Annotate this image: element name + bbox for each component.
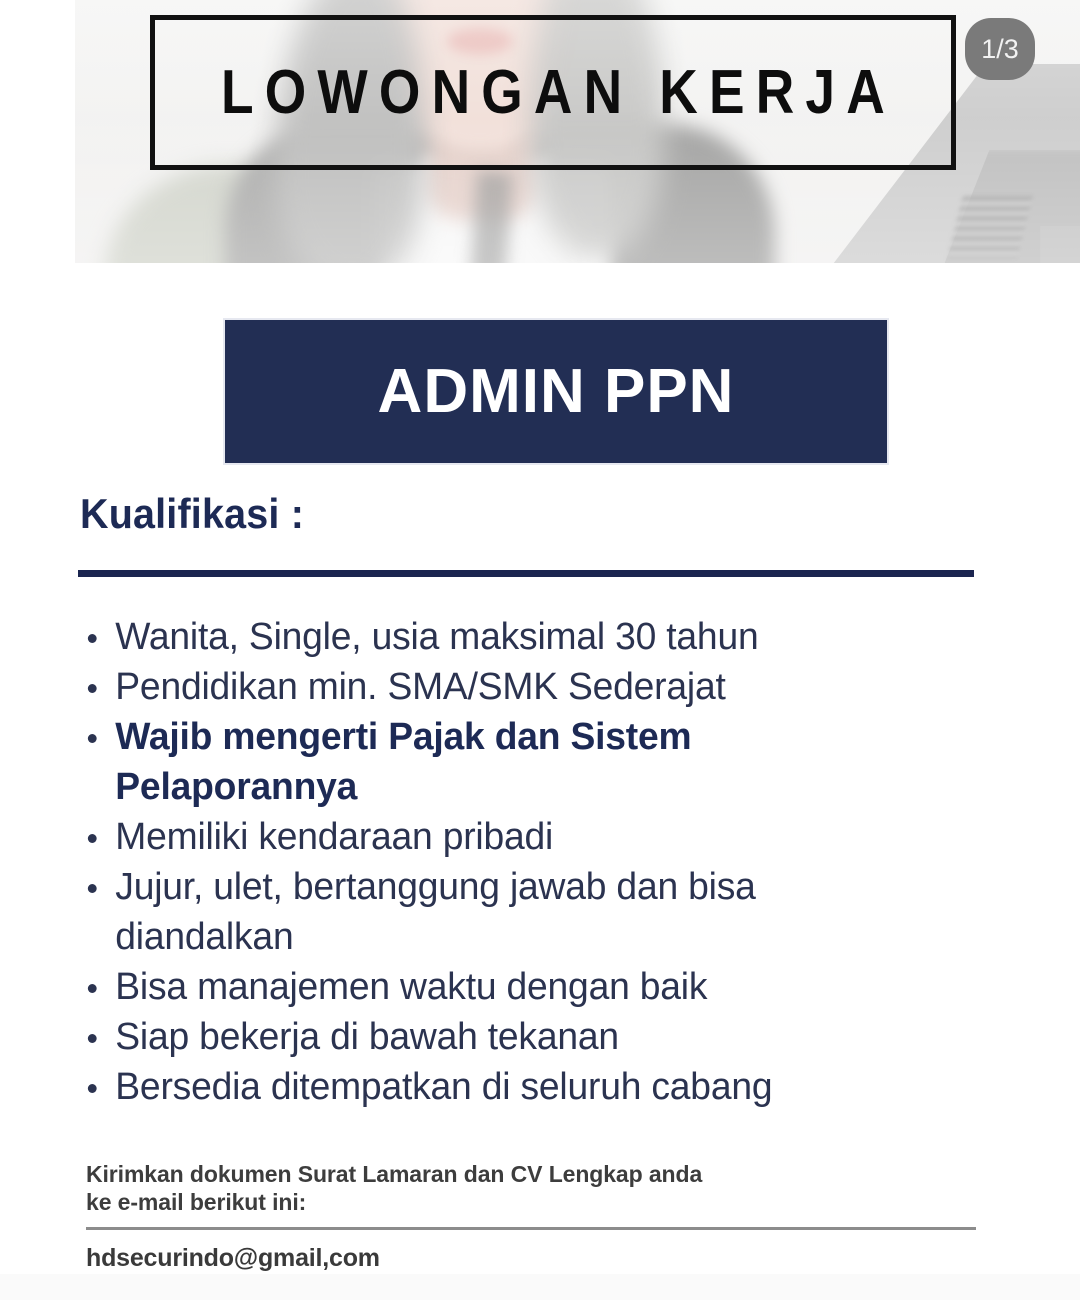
list-item: Bisa manajemen waktu dengan baik bbox=[80, 962, 991, 1012]
job-title-banner: ADMIN PPN bbox=[225, 320, 887, 463]
list-item: Bersedia ditempatkan di seluruh cabang bbox=[80, 1062, 991, 1112]
list-item: Siap bekerja di bawah tekanan bbox=[80, 1012, 991, 1062]
contact-email: hdsecurindo@gmail,com bbox=[86, 1244, 986, 1273]
footer-instruction-line-1: Kirimkan dokumen Surat Lamaran dan CV Le… bbox=[86, 1160, 986, 1188]
list-item: Memiliki kendaraan pribadi bbox=[80, 812, 991, 862]
list-item: Wajib mengerti Pajak dan Sistem Pelapora… bbox=[80, 712, 801, 812]
footer-section: Kirimkan dokumen Surat Lamaran dan CV Le… bbox=[86, 1160, 986, 1273]
list-item: Pendidikan min. SMA/SMK Sederajat bbox=[80, 662, 991, 712]
job-title: ADMIN PPN bbox=[378, 356, 735, 427]
qualifications-heading: Kualifikasi : bbox=[80, 490, 304, 538]
heading-divider bbox=[78, 570, 974, 577]
footer-instruction-line-2: ke e-mail berikut ini: bbox=[86, 1188, 986, 1216]
poster-title: LOWONGAN KERJA bbox=[210, 57, 896, 128]
qualifications-list: Wanita, Single, usia maksimal 30 tahun P… bbox=[80, 612, 1010, 1112]
bottom-strip bbox=[0, 1274, 1080, 1300]
footer-divider bbox=[86, 1227, 976, 1230]
list-item: Jujur, ulet, bertanggung jawab dan bisa … bbox=[80, 862, 860, 962]
job-vacancy-poster: LOWONGAN KERJA 1/3 ADMIN PPN Kualifikasi… bbox=[0, 0, 1080, 1300]
page-indicator-badge: 1/3 bbox=[965, 18, 1035, 80]
list-item: Wanita, Single, usia maksimal 30 tahun bbox=[80, 612, 991, 662]
header-banner: LOWONGAN KERJA 1/3 bbox=[0, 0, 1080, 263]
title-frame: LOWONGAN KERJA bbox=[150, 15, 956, 170]
